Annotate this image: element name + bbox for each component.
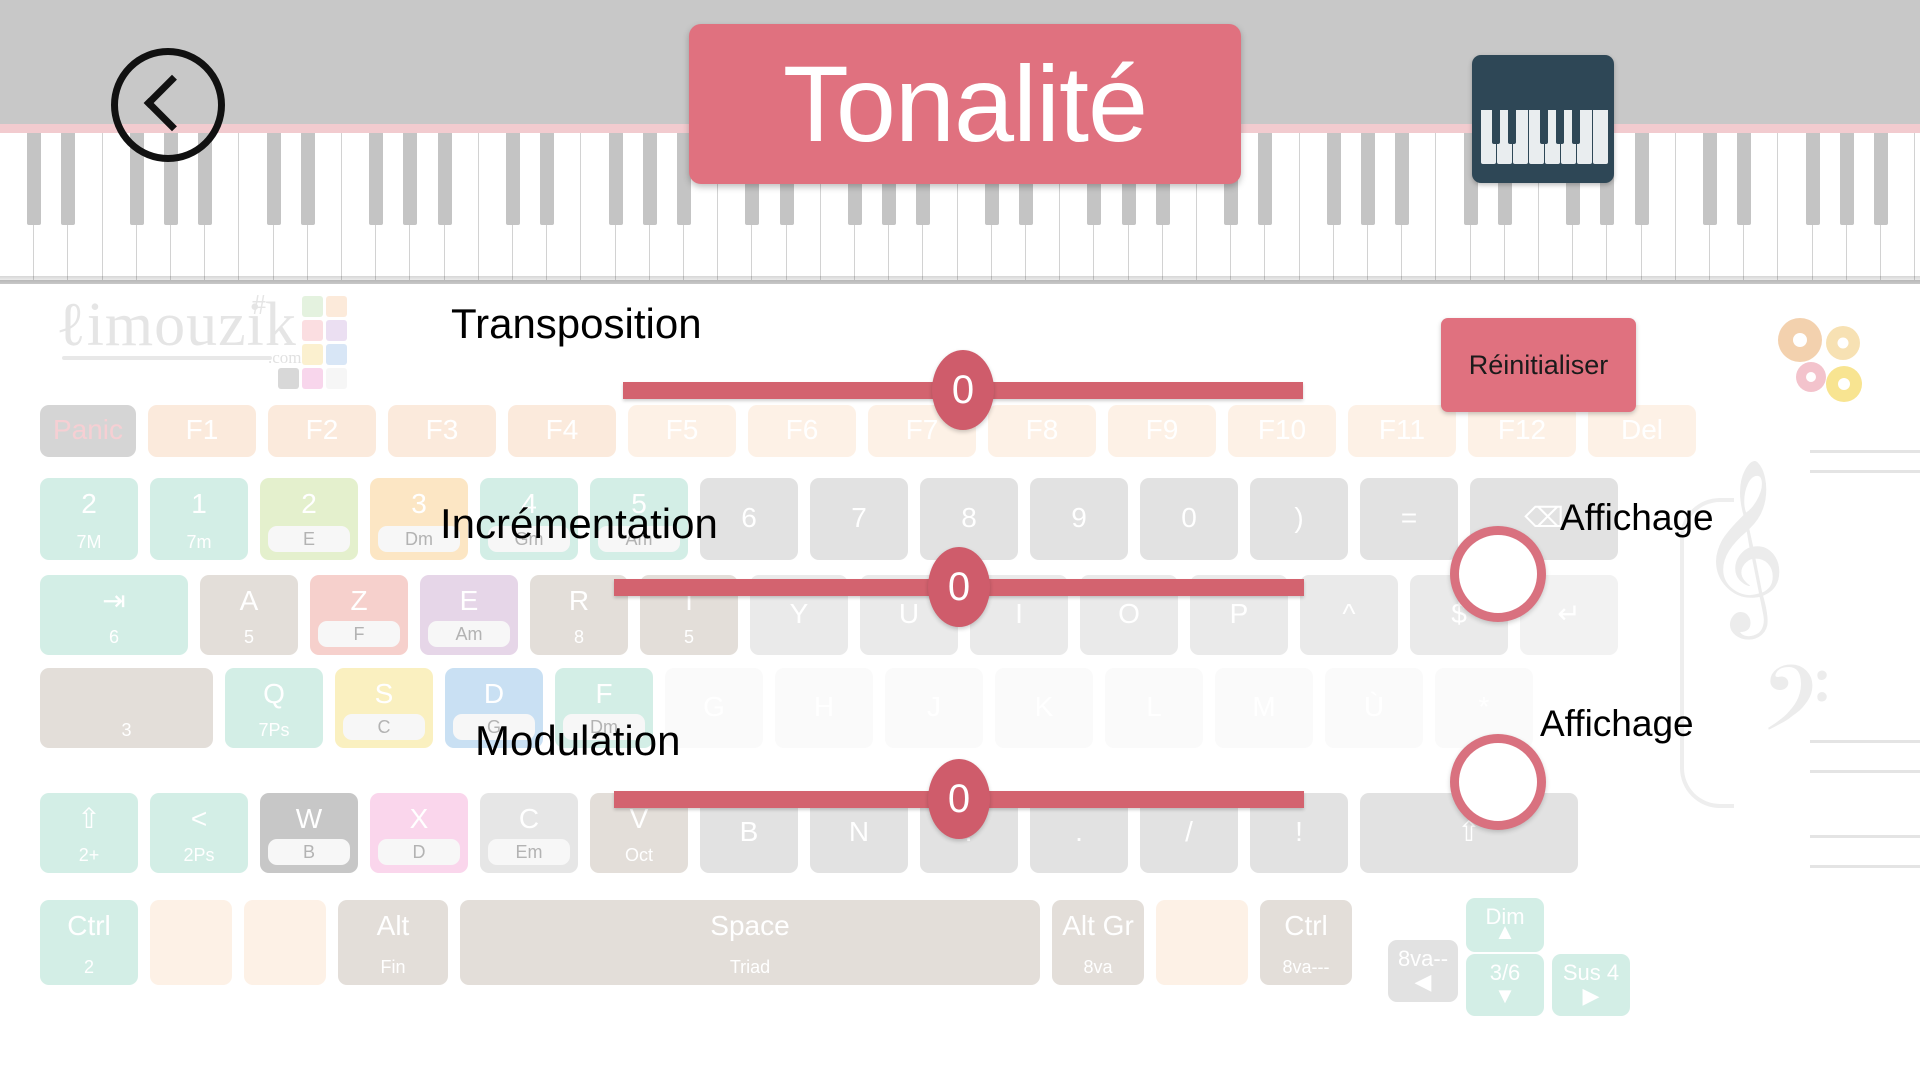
transposition-slider[interactable]: 0 [623,368,1303,414]
key-label: ) [1250,504,1348,532]
key-panic[interactable]: Panic [40,405,136,457]
key-f3[interactable]: F3 [388,405,496,457]
key-label: Q [225,680,323,708]
key-1[interactable]: 17m [150,478,248,560]
key-2[interactable]: 2E [260,478,358,560]
key-sublabel: 5 [200,628,298,646]
incrementation-label: Incrémentation [440,500,718,548]
key-sublabel: F [318,621,400,647]
key-sublabel: 7m [150,533,248,551]
key-label: C [480,805,578,833]
key-h[interactable]: H [775,668,873,748]
key-label: J [885,693,983,721]
key-e[interactable]: EAm [420,575,518,655]
key--[interactable]: ⇥6 [40,575,188,655]
icon-black-key [1508,110,1516,144]
key-label: F10 [1228,416,1336,444]
key-sublabel: 3 [40,721,213,739]
arrow-left-glyph-icon: ◀ [1388,971,1458,993]
key-alt[interactable]: AltFin [338,900,448,985]
key-label: ⇧ [1360,818,1578,846]
key-label: M [1215,693,1313,721]
key-label: S [335,680,433,708]
key-sublabel: Am [428,621,510,647]
key-alt-gr[interactable]: Alt Gr8va [1052,900,1144,985]
key-q[interactable]: Q7Ps [225,668,323,748]
key-label: F4 [508,416,616,444]
limouzik-logo: ℓimouzik # .com [56,294,406,366]
key-label: Alt [338,912,448,940]
key-label: Panic [40,416,136,444]
key-label: F [555,680,653,708]
key-label: Ù [1325,693,1423,721]
modulation-label: Modulation [475,717,680,765]
logo-square [302,296,323,317]
key-sublabel: Oct [590,846,688,864]
key-label: 3/6 [1466,962,1544,984]
key-sublabel: E [268,526,350,552]
display-2-label: Affichage [1540,703,1694,745]
key-label: A [200,587,298,615]
app-root: Tonalité ℓimouzik # .com 𝄞 𝄢 [0,0,1920,1080]
key-sublabel: 5 [640,628,738,646]
key-label: F6 [748,416,856,444]
arrow-right-glyph-icon: ▶ [1552,985,1630,1007]
icon-black-key [1572,110,1580,144]
key-label: F12 [1468,416,1576,444]
slider-thumb[interactable]: 0 [932,350,994,430]
slider-thumb[interactable]: 0 [928,759,990,839]
key-sublabel: C [343,714,425,740]
icon-black-key [1540,110,1548,144]
icon-white-key [1593,110,1608,164]
key-label: F1 [148,416,256,444]
display-1-label: Affichage [1560,497,1714,539]
key--[interactable]: Ù [1325,668,1423,748]
key-7[interactable]: 7 [810,478,908,560]
key-sublabel: 7M [40,533,138,551]
key-label: F11 [1348,416,1456,444]
key-sublabel: 2+ [40,846,138,864]
key-sublabel: 8va [1052,958,1144,976]
key-blank[interactable] [1156,900,1248,985]
key-f1[interactable]: F1 [148,405,256,457]
key-sublabel: Fin [338,958,448,976]
key-f11[interactable]: F11 [1348,405,1456,457]
logo-square [326,296,347,317]
key-label: ^ [1300,600,1398,628]
key-label: Ctrl [1260,912,1352,940]
key-sublabel: 2Ps [150,846,248,864]
key-sublabel: 7Ps [225,721,323,739]
key-label: ⇧ [40,805,138,833]
piano-keyboard-icon[interactable] [1472,55,1614,183]
logo-square [302,320,323,341]
arrow-left-key[interactable]: 8va--◀ [1388,940,1458,1002]
key-label: * [1435,693,1533,721]
key-label: Sus 4 [1552,962,1630,984]
key-blank[interactable] [150,900,232,985]
icon-black-key [1556,110,1564,144]
key-label: 2 [40,490,138,518]
key-del[interactable]: Del [1588,405,1696,457]
back-chevron-icon [144,75,201,132]
key--[interactable]: = [1360,478,1458,560]
arrow-down-key[interactable]: 3/6▼ [1466,954,1544,1016]
key-c[interactable]: CEm [480,793,578,873]
key-k[interactable]: K [995,668,1093,748]
key-label: F8 [988,416,1096,444]
key-space[interactable]: SpaceTriad [460,900,1040,985]
page-title-text: Tonalité [783,50,1147,158]
key-label: 7 [810,504,908,532]
logo-domain: .com [268,348,302,368]
key-0[interactable]: 0 [1140,478,1238,560]
page-title: Tonalité [689,24,1241,184]
key-8[interactable]: 8 [920,478,1018,560]
key-label: Z [310,587,408,615]
transposition-label: Transposition [451,300,702,348]
key-label: 2 [260,490,358,518]
logo-square [326,368,347,389]
logo-underline [62,356,272,360]
modulation-slider[interactable]: 0 [614,777,1304,823]
arrow-up-key[interactable]: Dim▲ [1466,898,1544,952]
key-f12[interactable]: F12 [1468,405,1576,457]
key-blank[interactable] [244,900,326,985]
back-button[interactable] [111,48,225,162]
key--[interactable]: <2Ps [150,793,248,873]
key-label: X [370,805,468,833]
key-f2[interactable]: F2 [268,405,376,457]
key-sublabel: Triad [460,958,1040,976]
slider-thumb[interactable]: 0 [928,547,990,627]
key-2[interactable]: 27M [40,478,138,560]
key-label: Del [1588,416,1696,444]
key-sublabel: 2 [40,958,138,976]
key-label: Ctrl [40,912,138,940]
key-label: = [1360,504,1458,532]
key-label: D [445,680,543,708]
key-label: ⇥ [40,587,188,615]
display-2-toggle[interactable] [1450,734,1546,830]
logo-square [302,344,323,365]
key-sublabel: B [268,839,350,865]
key-a[interactable]: A5 [200,575,298,655]
key-label: Space [460,912,1040,940]
key-label: 8 [920,504,1018,532]
key-label: 8va-- [1388,948,1458,970]
key-ctrl[interactable]: Ctrl8va--- [1260,900,1352,985]
key-s[interactable]: SC [335,668,433,748]
key-label: 9 [1030,504,1128,532]
key-l[interactable]: L [1105,668,1203,748]
incrementation-slider[interactable]: 0 [614,565,1304,611]
key-sublabel: D [378,839,460,865]
key-label: F5 [628,416,736,444]
reset-button-label: Réinitialiser [1469,350,1609,381]
key-z[interactable]: ZF [310,575,408,655]
logo-square [278,368,299,389]
key-label: E [420,587,518,615]
key-sublabel: Em [488,839,570,865]
key-label: < [150,805,248,833]
key-label: F3 [388,416,496,444]
key-label: F9 [1108,416,1216,444]
arrow-up-glyph-icon: ▲ [1466,921,1544,943]
key-sublabel: 8 [530,628,628,646]
logo-square [326,344,347,365]
key-label: 1 [150,490,248,518]
logo-square [326,320,347,341]
key-9[interactable]: 9 [1030,478,1128,560]
key-label: F2 [268,416,376,444]
key-label: 0 [1140,504,1238,532]
logo-square [302,368,323,389]
key-ctrl[interactable]: Ctrl2 [40,900,138,985]
key-label: H [775,693,873,721]
key-blank[interactable]: 3 [40,668,213,748]
arrow-right-key[interactable]: Sus 4▶ [1552,954,1630,1016]
key-j[interactable]: J [885,668,983,748]
icon-black-key [1492,110,1500,144]
key-m[interactable]: M [1215,668,1313,748]
key--[interactable]: ) [1250,478,1348,560]
key-f4[interactable]: F4 [508,405,616,457]
key-x[interactable]: XD [370,793,468,873]
logo-sharp-icon: # [252,290,266,322]
key-sublabel: 6 [40,628,188,646]
key-label: L [1105,693,1203,721]
key-sublabel: 8va--- [1260,958,1352,976]
key-label: Alt Gr [1052,912,1144,940]
key--[interactable]: ^ [1300,575,1398,655]
key-w[interactable]: WB [260,793,358,873]
key-label: W [260,805,358,833]
arrow-down-glyph-icon: ▼ [1466,985,1544,1007]
display-1-toggle[interactable] [1450,526,1546,622]
key--[interactable]: ⇧2+ [40,793,138,873]
key-label: K [995,693,1093,721]
reset-button[interactable]: Réinitialiser [1441,318,1636,412]
